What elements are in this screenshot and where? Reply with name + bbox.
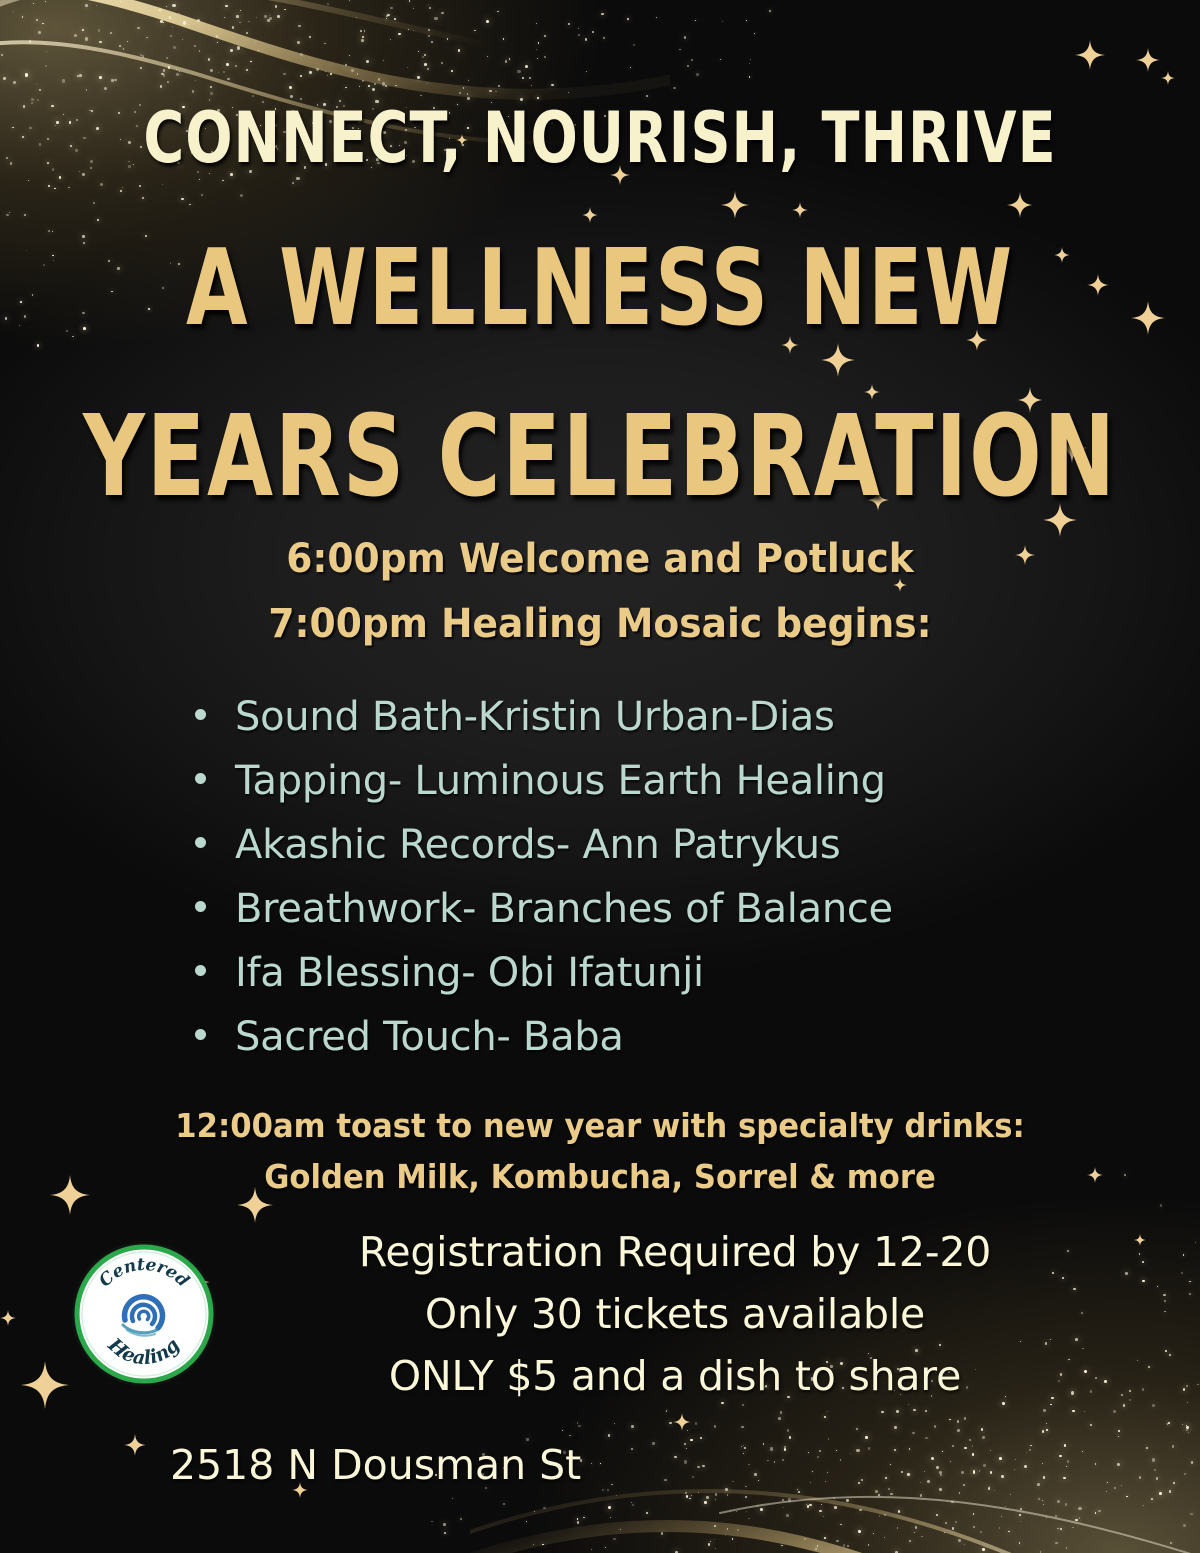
session-list-item: Tapping- Luminous Earth Healing xyxy=(195,749,893,813)
flyer-canvas: CONNECT, NOURISH, THRIVE A WELLNESS NEW … xyxy=(0,0,1200,1553)
tagline: CONNECT, NOURISH, THRIVE xyxy=(24,96,1176,179)
toast-line-1: 12:00am toast to new year with specialty… xyxy=(42,1106,1158,1145)
centered-healing-logo: Centered Healing xyxy=(70,1240,218,1388)
bullet-dot-icon xyxy=(195,965,206,976)
session-label: Tapping- Luminous Earth Healing xyxy=(235,749,886,813)
page-title-line-2: YEARS CELEBRATION xyxy=(18,390,1182,522)
session-label: Sound Bath-Kristin Urban-Dias xyxy=(235,685,835,749)
session-list-item: Breathwork- Branches of Balance xyxy=(195,877,893,941)
bullet-dot-icon xyxy=(195,837,206,848)
session-list: Sound Bath-Kristin Urban-DiasTapping- Lu… xyxy=(195,685,893,1069)
session-label: Sacred Touch- Baba xyxy=(235,1005,624,1069)
session-label: Breathwork- Branches of Balance xyxy=(235,877,893,941)
bullet-dot-icon xyxy=(195,1029,206,1040)
session-list-item: Ifa Blessing- Obi Ifatunji xyxy=(195,941,893,1005)
registration-price: ONLY $5 and a dish to share xyxy=(150,1352,1200,1400)
toast-line-2: Golden Milk, Kombucha, Sorrel & more xyxy=(42,1157,1158,1196)
session-label: Ifa Blessing- Obi Ifatunji xyxy=(235,941,704,1005)
session-label: Akashic Records- Ann Patrykus xyxy=(235,813,840,877)
registration-deadline: Registration Required by 12-20 xyxy=(150,1228,1200,1276)
registration-ticket-count: Only 30 tickets available xyxy=(150,1290,1200,1338)
session-list-item: Sacred Touch- Baba xyxy=(195,1005,893,1069)
schedule-line-mosaic: 7:00pm Healing Mosaic begins: xyxy=(36,601,1164,647)
page-title-line-1: A WELLNESS NEW xyxy=(18,228,1182,350)
bullet-dot-icon xyxy=(195,709,206,720)
session-list-item: Akashic Records- Ann Patrykus xyxy=(195,813,893,877)
bullet-dot-icon xyxy=(195,773,206,784)
venue-address: 2518 N Dousman St xyxy=(170,1441,581,1489)
session-list-item: Sound Bath-Kristin Urban-Dias xyxy=(195,685,893,749)
schedule-line-welcome: 6:00pm Welcome and Potluck xyxy=(36,536,1164,582)
bullet-dot-icon xyxy=(195,901,206,912)
